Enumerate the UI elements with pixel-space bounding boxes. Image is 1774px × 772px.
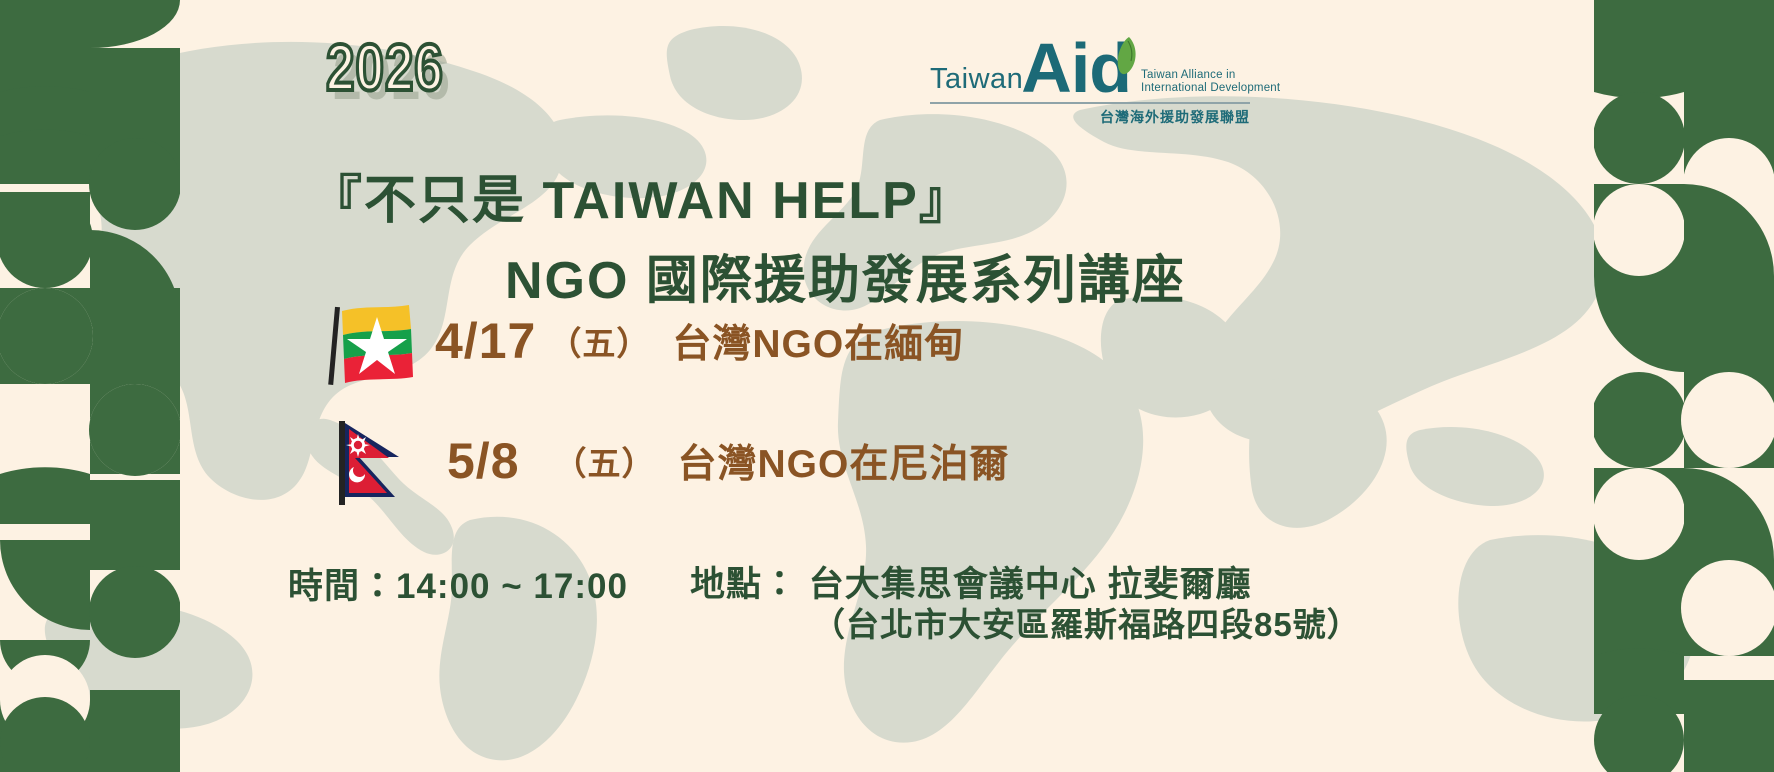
taiwan-island-icon [1113, 22, 1139, 62]
session-date: 5/8 [447, 432, 520, 490]
headline-line-1: 『不只是 TAIWAN HELP』 [310, 158, 973, 233]
myanmar-flag-icon [325, 295, 417, 387]
right-geometric-border [1594, 0, 1774, 772]
session-day: （五） [554, 437, 656, 485]
session-day: （五） [548, 317, 650, 365]
logo-aid-text: Aid [1021, 38, 1131, 100]
nepal-flag-icon [325, 415, 417, 507]
session-date: 4/17 [435, 312, 536, 370]
logo-tagline-zh: 台灣海外援助發展聯盟 [930, 107, 1250, 127]
event-address: （台北市大安區羅斯福路四段85號） [812, 598, 1361, 646]
session-topic: 台灣NGO在緬甸 [672, 313, 964, 369]
logo-tagline-en: Taiwan Alliance in International Develop… [1141, 69, 1280, 100]
session-row-nepal: 5/8 （五） 台灣NGO在尼泊爾 [325, 415, 1009, 507]
logo-taiwan-text: Taiwan [930, 65, 1023, 100]
logo-tagline-en-line1: Taiwan Alliance in [1141, 69, 1235, 81]
year-badge: 2026 [326, 34, 444, 100]
event-poster: 2026 Taiwan Aid Taiwan Alliance in Inter… [0, 0, 1774, 772]
logo-tagline-en-line2: International Development [1141, 82, 1280, 94]
left-geometric-border [0, 0, 180, 772]
session-row-myanmar: 4/17 （五） 台灣NGO在緬甸 [325, 295, 964, 387]
event-time: 時間：14:00 ~ 17:00 [288, 558, 628, 609]
session-topic: 台灣NGO在尼泊爾 [678, 433, 1010, 489]
taiwanaid-logo[interactable]: Taiwan Aid Taiwan Alliance in Internatio… [930, 30, 1250, 130]
logo-wordmark: Taiwan Aid Taiwan Alliance in Internatio… [930, 30, 1250, 100]
